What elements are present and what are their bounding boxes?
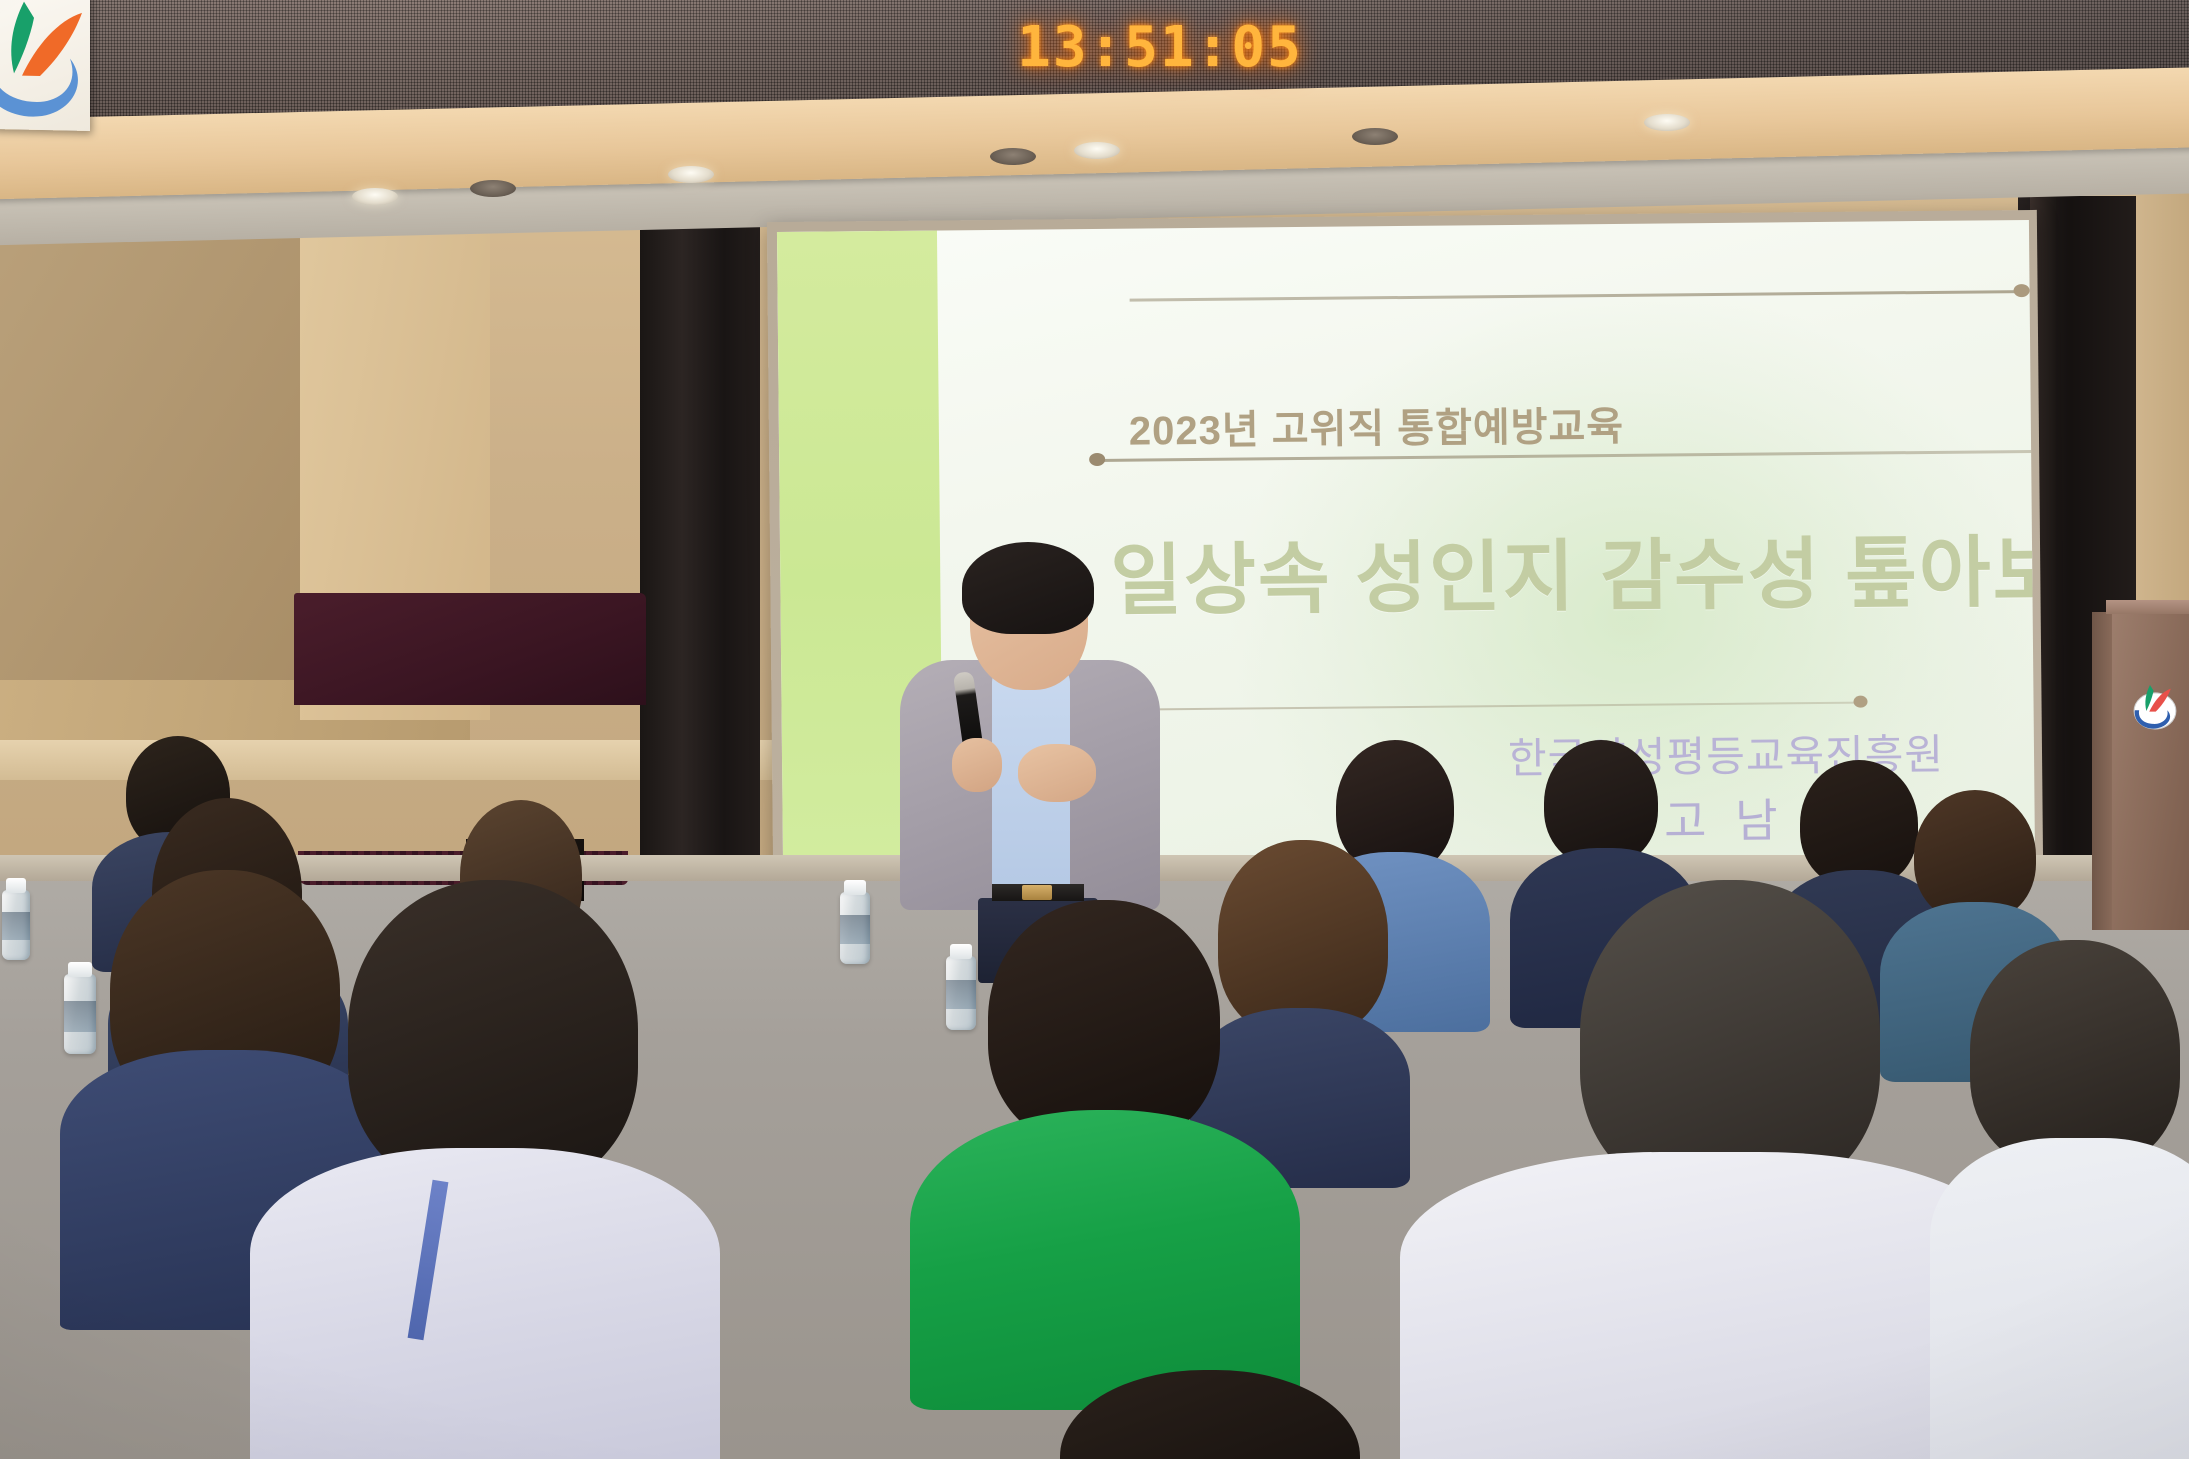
attendee-head <box>1970 940 2180 1170</box>
ceiling-downlight <box>470 180 516 197</box>
presenter-belt-buckle <box>1022 885 1052 900</box>
slide-eyebrow-text: 2023년 고위직 통합예방교육 <box>1129 394 1625 457</box>
attendee-body <box>910 1110 1300 1410</box>
wall-panel-left-inner <box>0 210 300 680</box>
slide-rule-low <box>1100 702 1860 711</box>
attendee-body <box>1400 1152 2020 1459</box>
slide-rule-top <box>1130 290 2020 302</box>
presenter-hand-right <box>1018 744 1096 802</box>
ceiling-downlight <box>1644 114 1690 131</box>
attendee-body <box>1930 1138 2189 1459</box>
attendee-head <box>348 880 638 1192</box>
ceiling-downlight <box>668 166 714 183</box>
slide-rule-mid-dot <box>1089 453 1105 466</box>
attendee-body <box>250 1148 720 1459</box>
slide-title: 일상속 성인지 감수성 톺아보기 <box>1110 509 2035 631</box>
slide-rule-top-dot <box>2014 284 2030 297</box>
ceiling-downlight <box>990 148 1036 165</box>
ceiling-downlight <box>1074 142 1120 159</box>
podium-logo-icon <box>2129 680 2181 734</box>
water-bottle <box>840 880 870 964</box>
attendee-head <box>1060 1370 1360 1459</box>
clock-display: 13:51:05 <box>1040 16 1280 78</box>
podium-top-surface <box>2106 600 2189 614</box>
institution-logo-icon <box>0 0 90 131</box>
attendee-foreground-right <box>1400 880 2020 1459</box>
institution-logo-plaque <box>0 0 90 131</box>
clock-time: 13:51:05 <box>1017 15 1303 80</box>
piano-cover-lid <box>294 593 646 705</box>
lecture-hall-photo: 13:51:05 2023년 고위직 통합예방교육 일상속 <box>0 0 2189 1459</box>
attendee-green-top <box>910 900 1300 1370</box>
attendee-right-edge <box>1930 940 2189 1459</box>
ceiling-downlight <box>1352 128 1398 145</box>
attendee-bottom-center <box>1000 1370 1420 1459</box>
presenter-hair <box>962 542 1094 634</box>
podium-side <box>2092 612 2114 930</box>
podium <box>2112 600 2189 930</box>
attendee-foreground-left <box>250 880 720 1459</box>
presenter-hand-left <box>952 738 1002 792</box>
slide-rule-low-dot <box>1853 696 1867 708</box>
ceiling-downlight <box>352 188 398 205</box>
water-bottle <box>2 878 30 960</box>
